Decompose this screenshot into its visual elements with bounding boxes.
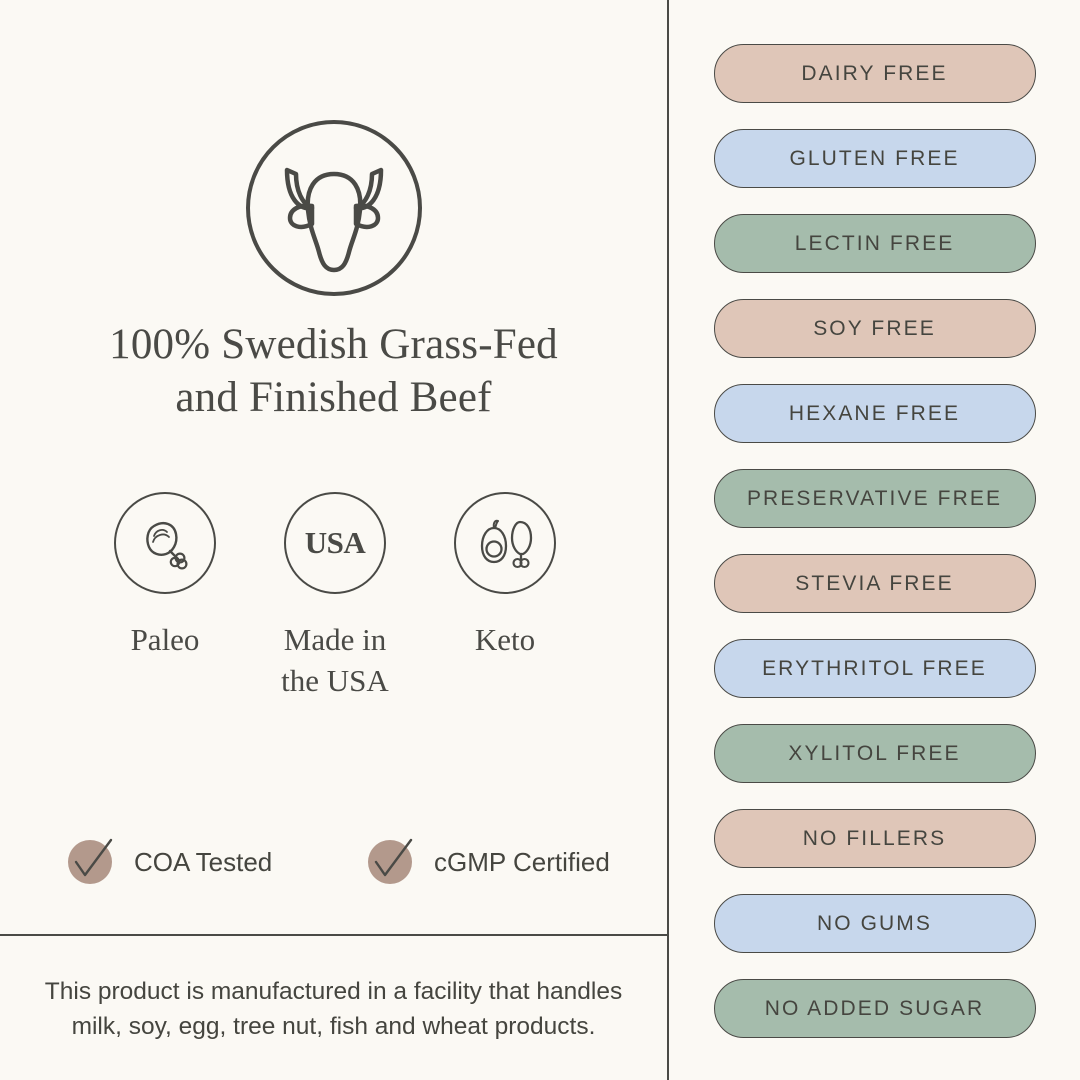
badge-keto: Keto — [430, 492, 580, 661]
allergen-disclaimer-line-1: This product is manufactured in a facili… — [28, 975, 639, 1010]
badge-made-in-usa: USA Made in the USA — [260, 492, 410, 702]
product-title-line-1: 100% Swedish Grass-Fed — [0, 318, 667, 371]
cert-cgmp-certified-label: cGMP Certified — [434, 847, 610, 878]
product-title: 100% Swedish Grass-Fed and Finished Beef — [0, 318, 667, 425]
pill-no-gums: NO GUMS — [714, 894, 1036, 953]
badge-usa-label-line-1: Made in — [281, 620, 389, 661]
allergen-disclaimer: This product is manufactured in a facili… — [0, 975, 667, 1045]
badge-made-in-usa-label: Made in the USA — [281, 620, 389, 702]
usa-badge-circle: USA — [284, 492, 386, 594]
ham-leg-icon — [130, 508, 200, 578]
cow-head-icon — [244, 118, 424, 298]
pill-no-added-sugar: NO ADDED SUGAR — [714, 979, 1036, 1038]
keto-badge-circle — [454, 492, 556, 594]
paleo-badge-circle — [114, 492, 216, 594]
pill-gluten-free: GLUTEN FREE — [714, 129, 1036, 188]
allergen-disclaimer-line-2: milk, soy, egg, tree nut, fish and wheat… — [28, 1010, 639, 1045]
pill-lectin-free: LECTIN FREE — [714, 214, 1036, 273]
checkmark-icon — [368, 836, 420, 888]
pill-preservative-free: PRESERVATIVE FREE — [714, 469, 1036, 528]
pill-erythritol-free: ERYTHRITOL FREE — [714, 639, 1036, 698]
avocado-drumstick-icon — [470, 508, 540, 578]
product-badge-infographic: 100% Swedish Grass-Fed and Finished Beef — [0, 0, 1080, 1080]
horizontal-divider — [0, 934, 668, 936]
check-tick — [368, 836, 420, 888]
cert-coa-tested-label: COA Tested — [134, 847, 272, 878]
left-panel: 100% Swedish Grass-Fed and Finished Beef — [0, 0, 667, 934]
usa-text-icon: USA — [305, 525, 366, 561]
pill-soy-free: SOY FREE — [714, 299, 1036, 358]
pill-dairy-free: DAIRY FREE — [714, 44, 1036, 103]
product-title-line-2: and Finished Beef — [0, 371, 667, 424]
certification-badge-group: Paleo USA Made in the USA — [90, 492, 580, 702]
pill-no-fillers: NO FILLERS — [714, 809, 1036, 868]
badge-paleo-label-line-1: Paleo — [131, 620, 200, 661]
checkmark-icon — [68, 836, 120, 888]
cert-cgmp-certified: cGMP Certified — [368, 836, 610, 888]
certification-list: COA Tested cGMP Certified — [68, 836, 628, 888]
check-tick — [68, 836, 120, 888]
pill-stevia-free: STEVIA FREE — [714, 554, 1036, 613]
pill-hexane-free: HEXANE FREE — [714, 384, 1036, 443]
badge-keto-label: Keto — [475, 620, 535, 661]
cert-coa-tested: COA Tested — [68, 836, 368, 888]
badge-usa-label-line-2: the USA — [281, 661, 389, 702]
badge-paleo-label: Paleo — [131, 620, 200, 661]
pill-xylitol-free: XYLITOL FREE — [714, 724, 1036, 783]
badge-paleo: Paleo — [90, 492, 240, 661]
badge-keto-label-line-1: Keto — [475, 620, 535, 661]
free-from-pill-list: DAIRY FREEGLUTEN FREELECTIN FREESOY FREE… — [669, 0, 1080, 1080]
